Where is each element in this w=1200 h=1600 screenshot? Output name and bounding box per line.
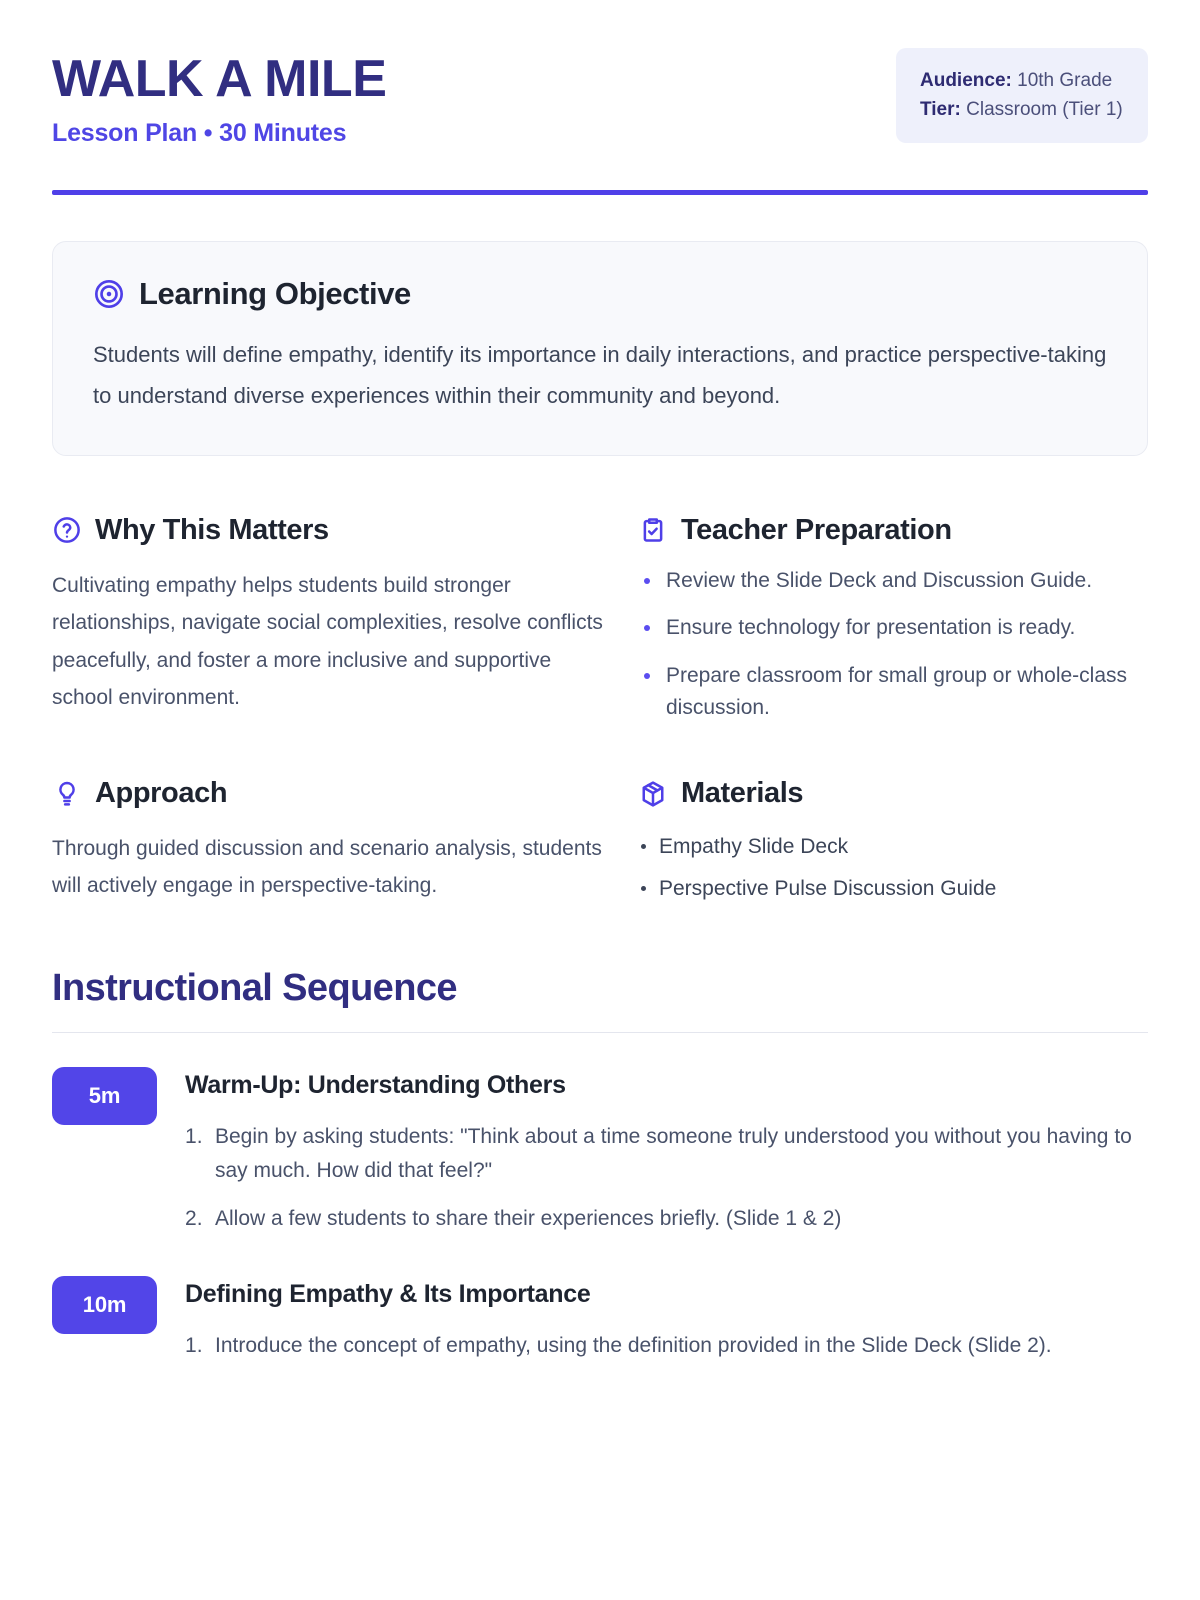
teacher-preparation-section: Teacher Preparation Review the Slide Dec… [638, 514, 1148, 725]
why-this-matters-heading: Why This Matters [95, 514, 329, 547]
page-subtitle: Lesson Plan • 30 Minutes [52, 119, 386, 148]
instructional-sequence-divider [52, 1032, 1148, 1033]
step-item-list: Begin by asking students: "Think about a… [185, 1120, 1148, 1236]
materials-heading: Materials [681, 777, 803, 810]
document-header: WALK A MILE Lesson Plan • 30 Minutes Aud… [52, 48, 1148, 148]
audience-value: 10th Grade [1012, 70, 1112, 91]
list-item: Prepare classroom for small group or who… [638, 660, 1148, 725]
list-item: Empathy Slide Deck [638, 830, 1148, 864]
approach-text: Through guided discussion and scenario a… [52, 830, 610, 905]
header-divider [52, 190, 1148, 195]
instructional-sequence-heading: Instructional Sequence [52, 967, 1148, 1010]
clipboard-check-icon [638, 515, 668, 545]
materials-section: Materials Empathy Slide Deck Perspective… [638, 777, 1148, 905]
list-item: Introduce the concept of empathy, using … [185, 1329, 1148, 1363]
teacher-preparation-header: Teacher Preparation [638, 514, 1148, 547]
approach-header: Approach [52, 777, 610, 810]
learning-objective-text: Students will define empathy, identify i… [93, 334, 1107, 417]
why-this-matters-section: Why This Matters Cultivating empathy hel… [52, 514, 610, 725]
tier-row: Tier: Classroom (Tier 1) [920, 95, 1126, 124]
audience-row: Audience: 10th Grade [920, 66, 1126, 95]
tier-label: Tier: [920, 99, 961, 120]
list-item: Begin by asking students: "Think about a… [185, 1120, 1148, 1188]
why-this-matters-text: Cultivating empathy helps students build… [52, 567, 610, 717]
step-item-list: Introduce the concept of empathy, using … [185, 1329, 1148, 1363]
tier-value: Classroom (Tier 1) [961, 99, 1123, 120]
lesson-plan-page: WALK A MILE Lesson Plan • 30 Minutes Aud… [0, 0, 1200, 1600]
question-circle-icon [52, 515, 82, 545]
header-title-group: WALK A MILE Lesson Plan • 30 Minutes [52, 48, 386, 148]
step-time-badge: 5m [52, 1067, 157, 1125]
step-title: Defining Empathy & Its Importance [185, 1280, 1148, 1309]
learning-objective-card: Learning Objective Students will define … [52, 241, 1148, 456]
step-content: Defining Empathy & Its Importance Introd… [185, 1276, 1148, 1363]
list-item: Ensure technology for presentation is re… [638, 612, 1148, 645]
approach-section: Approach Through guided discussion and s… [52, 777, 610, 905]
learning-objective-header: Learning Objective [93, 276, 1107, 312]
sequence-step: 5m Warm-Up: Understanding Others Begin b… [52, 1067, 1148, 1236]
step-content: Warm-Up: Understanding Others Begin by a… [185, 1067, 1148, 1236]
materials-header: Materials [638, 777, 1148, 810]
list-item: Review the Slide Deck and Discussion Gui… [638, 565, 1148, 598]
target-icon [93, 278, 125, 310]
page-title: WALK A MILE [52, 52, 386, 107]
step-time-badge: 10m [52, 1276, 157, 1334]
why-this-matters-header: Why This Matters [52, 514, 610, 547]
package-icon [638, 779, 668, 809]
approach-heading: Approach [95, 777, 227, 810]
audience-label: Audience: [920, 70, 1012, 91]
sections-grid: Why This Matters Cultivating empathy hel… [52, 514, 1148, 905]
lightbulb-icon [52, 779, 82, 809]
learning-objective-heading: Learning Objective [139, 276, 411, 312]
teacher-preparation-heading: Teacher Preparation [681, 514, 952, 547]
list-item: Allow a few students to share their expe… [185, 1202, 1148, 1236]
instructional-sequence-steps: 5m Warm-Up: Understanding Others Begin b… [52, 1067, 1148, 1363]
teacher-preparation-list: Review the Slide Deck and Discussion Gui… [638, 565, 1148, 725]
sequence-step: 10m Defining Empathy & Its Importance In… [52, 1276, 1148, 1363]
list-item: Perspective Pulse Discussion Guide [638, 872, 1148, 906]
materials-list: Empathy Slide Deck Perspective Pulse Dis… [638, 830, 1148, 905]
audience-tier-badge: Audience: 10th Grade Tier: Classroom (Ti… [896, 48, 1148, 143]
step-title: Warm-Up: Understanding Others [185, 1071, 1148, 1100]
